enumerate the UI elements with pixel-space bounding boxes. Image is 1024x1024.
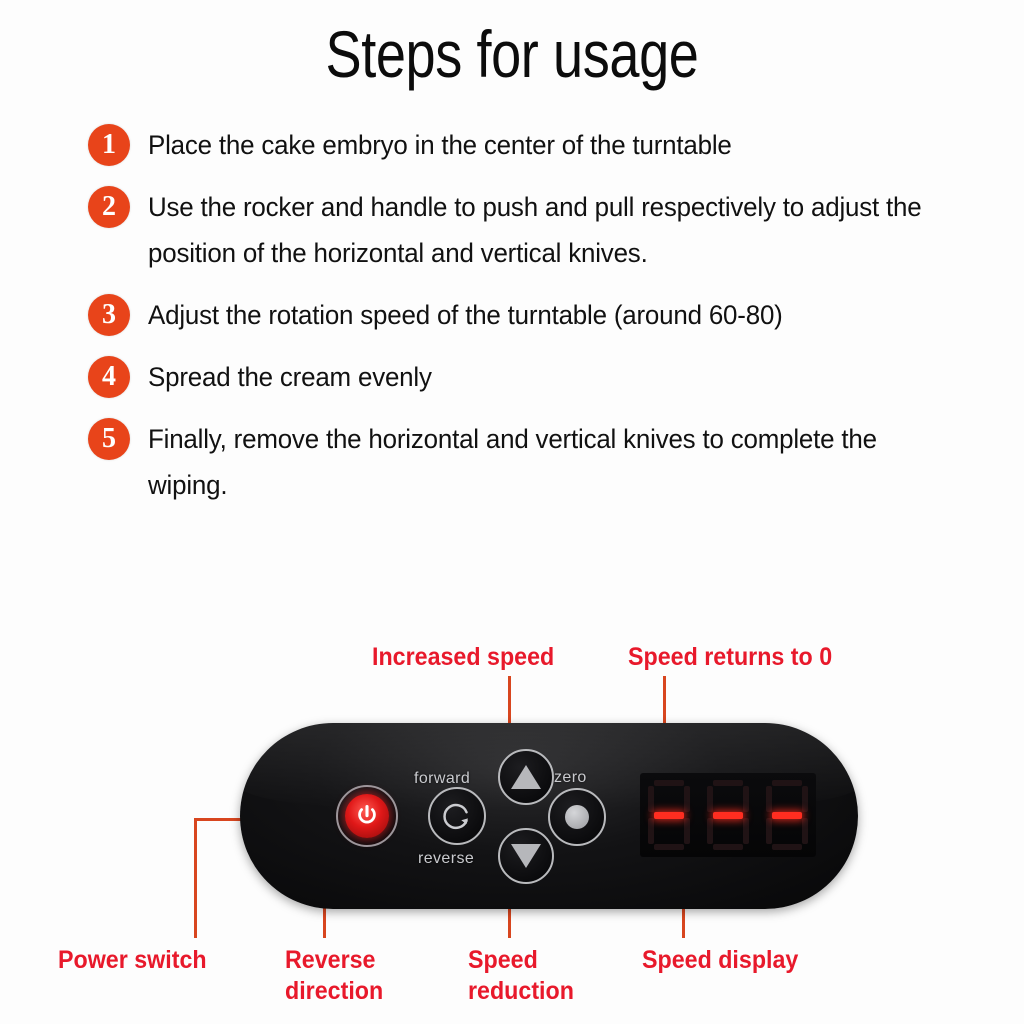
list-item: 3 Adjust the rotation speed of the turnt…	[88, 292, 988, 338]
panel-caption-forward: forward	[414, 770, 470, 788]
segment-e	[707, 818, 713, 844]
steps-list: 1 Place the cake embryo in the center of…	[88, 122, 988, 524]
control-panel-diagram: Increased speed Speed returns to 0 Power…	[0, 620, 1024, 1024]
device-control-panel: forward reverse zero	[240, 723, 858, 909]
segment-e	[648, 818, 654, 844]
triangle-down-icon	[511, 844, 541, 868]
callout-speed-reduction: Speed reduction	[468, 945, 574, 1007]
segment-g	[772, 812, 802, 819]
callout-power-switch: Power switch	[58, 945, 207, 976]
rotation-arrow-icon	[438, 797, 476, 835]
segment-b	[802, 786, 808, 812]
step-text: Use the rocker and handle to push and pu…	[148, 184, 954, 276]
segment-a	[713, 780, 743, 786]
power-button-led	[345, 794, 389, 838]
segment-b	[684, 786, 690, 812]
page-title: Steps for usage	[92, 14, 932, 94]
segment-a	[772, 780, 802, 786]
segment-a	[654, 780, 684, 786]
list-item: 4 Spread the cream evenly	[88, 354, 988, 400]
seven-segment-digit	[705, 778, 751, 852]
segment-g	[654, 812, 684, 819]
step-text: Spread the cream evenly	[148, 354, 954, 400]
list-item: 1 Place the cake embryo in the center of…	[88, 122, 988, 168]
callout-increased-speed: Increased speed	[372, 642, 554, 673]
segment-g	[713, 812, 743, 819]
dot-icon	[565, 805, 589, 829]
segment-e	[766, 818, 772, 844]
step-number-badge: 3	[88, 294, 130, 336]
step-number-badge: 4	[88, 356, 130, 398]
step-number-badge: 2	[88, 186, 130, 228]
reverse-direction-button[interactable]	[428, 787, 486, 845]
step-number-badge: 5	[88, 418, 130, 460]
segment-c	[743, 818, 749, 844]
segment-d	[713, 844, 743, 850]
panel-caption-zero: zero	[554, 769, 587, 787]
triangle-up-icon	[511, 765, 541, 789]
segment-b	[743, 786, 749, 812]
list-item: 2 Use the rocker and handle to push and …	[88, 184, 988, 276]
increase-speed-button[interactable]	[498, 749, 554, 805]
panel-caption-reverse: reverse	[418, 850, 474, 868]
segment-f	[766, 786, 772, 812]
step-text: Place the cake embryo in the center of t…	[148, 122, 954, 168]
segment-d	[654, 844, 684, 850]
segment-c	[802, 818, 808, 844]
seven-segment-digit	[646, 778, 692, 852]
zero-speed-button[interactable]	[548, 788, 606, 846]
step-text: Finally, remove the horizontal and verti…	[148, 416, 954, 508]
callout-speed-display: Speed display	[642, 945, 798, 976]
power-icon	[355, 804, 379, 828]
callout-reverse-direction: Reverse direction	[285, 945, 383, 1007]
step-text: Adjust the rotation speed of the turntab…	[148, 292, 954, 338]
seven-segment-digit	[764, 778, 810, 852]
segment-c	[684, 818, 690, 844]
power-switch-button[interactable]	[336, 785, 398, 847]
speed-display-readout	[640, 773, 816, 857]
leader-line-power-vertical	[194, 818, 197, 938]
step-number-badge: 1	[88, 124, 130, 166]
segment-f	[648, 786, 654, 812]
segment-d	[772, 844, 802, 850]
callout-speed-returns-to-zero: Speed returns to 0	[628, 642, 832, 673]
segment-f	[707, 786, 713, 812]
reduce-speed-button[interactable]	[498, 828, 554, 884]
list-item: 5 Finally, remove the horizontal and ver…	[88, 416, 988, 508]
